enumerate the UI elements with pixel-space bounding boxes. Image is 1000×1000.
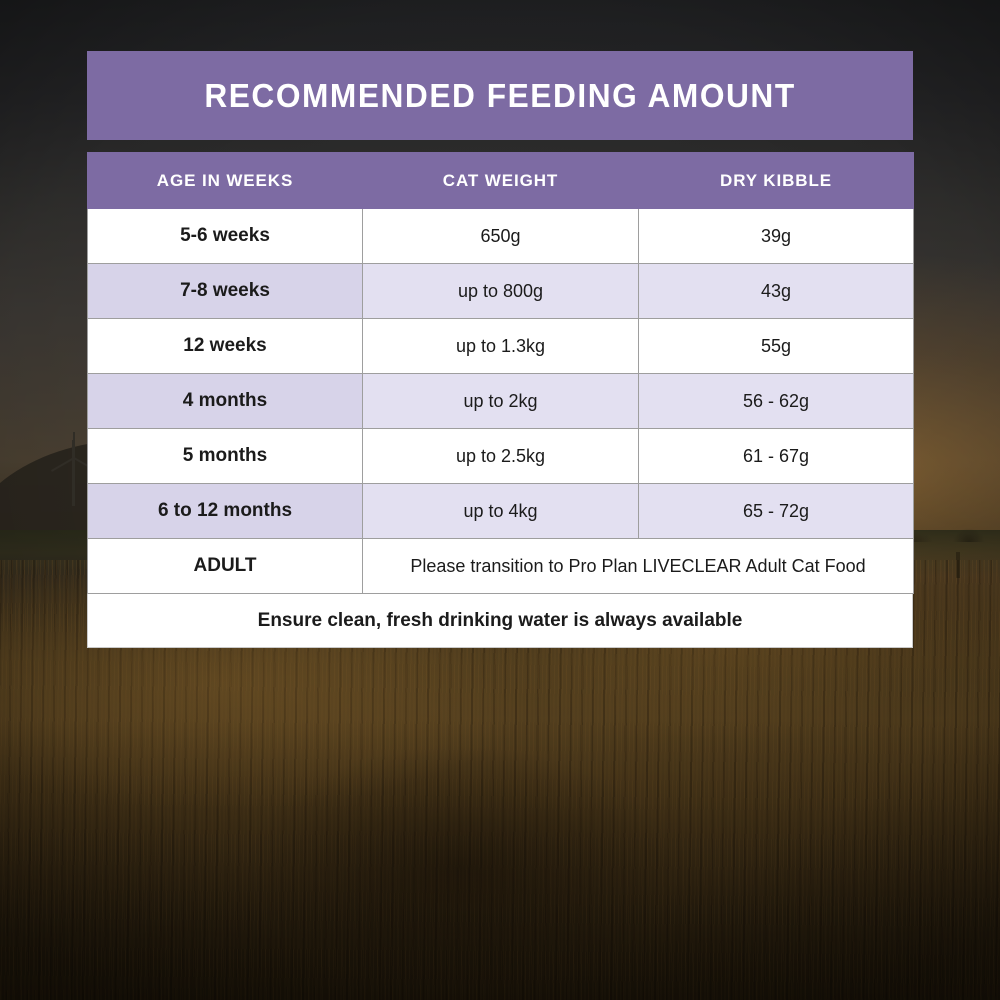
cell-kibble: 39g (639, 209, 914, 264)
cell-kibble: 55g (639, 319, 914, 374)
table-row: 5 months up to 2.5kg 61 - 67g (88, 429, 914, 484)
table-row: 7-8 weeks up to 800g 43g (88, 264, 914, 319)
page-title: RECOMMENDED FEEDING AMOUNT (204, 77, 795, 115)
cell-weight: 650g (363, 209, 639, 264)
cell-weight: up to 4kg (363, 484, 639, 539)
cell-weight: up to 2kg (363, 374, 639, 429)
cell-kibble: 56 - 62g (639, 374, 914, 429)
cell-adult-note: Please transition to Pro Plan LIVECLEAR … (363, 539, 914, 594)
title-bar: RECOMMENDED FEEDING AMOUNT (87, 51, 913, 140)
cell-age-adult: ADULT (88, 539, 363, 594)
table-row: 12 weeks up to 1.3kg 55g (88, 319, 914, 374)
cell-weight: up to 800g (363, 264, 639, 319)
water-reminder-note: Ensure clean, fresh drinking water is al… (87, 594, 913, 648)
feeding-guide-card: RECOMMENDED FEEDING AMOUNT AGE IN WEEKS … (87, 51, 913, 648)
column-header-age: AGE IN WEEKS (88, 153, 363, 209)
cell-age: 6 to 12 months (88, 484, 363, 539)
cell-weight: up to 2.5kg (363, 429, 639, 484)
table-row-adult: ADULT Please transition to Pro Plan LIVE… (88, 539, 914, 594)
column-header-kibble: DRY KIBBLE (639, 153, 914, 209)
table-row: 5-6 weeks 650g 39g (88, 209, 914, 264)
title-spacer (87, 140, 913, 152)
feeding-amount-table: AGE IN WEEKS CAT WEIGHT DRY KIBBLE 5-6 w… (87, 152, 914, 594)
cell-kibble: 43g (639, 264, 914, 319)
cell-age: 12 weeks (88, 319, 363, 374)
table-header-row: AGE IN WEEKS CAT WEIGHT DRY KIBBLE (88, 153, 914, 209)
cell-age: 5-6 weeks (88, 209, 363, 264)
table-row: 6 to 12 months up to 4kg 65 - 72g (88, 484, 914, 539)
cell-kibble: 65 - 72g (639, 484, 914, 539)
table-row: 4 months up to 2kg 56 - 62g (88, 374, 914, 429)
cell-weight: up to 1.3kg (363, 319, 639, 374)
column-header-weight: CAT WEIGHT (363, 153, 639, 209)
cell-age: 7-8 weeks (88, 264, 363, 319)
cell-age: 5 months (88, 429, 363, 484)
cell-kibble: 61 - 67g (639, 429, 914, 484)
cell-age: 4 months (88, 374, 363, 429)
